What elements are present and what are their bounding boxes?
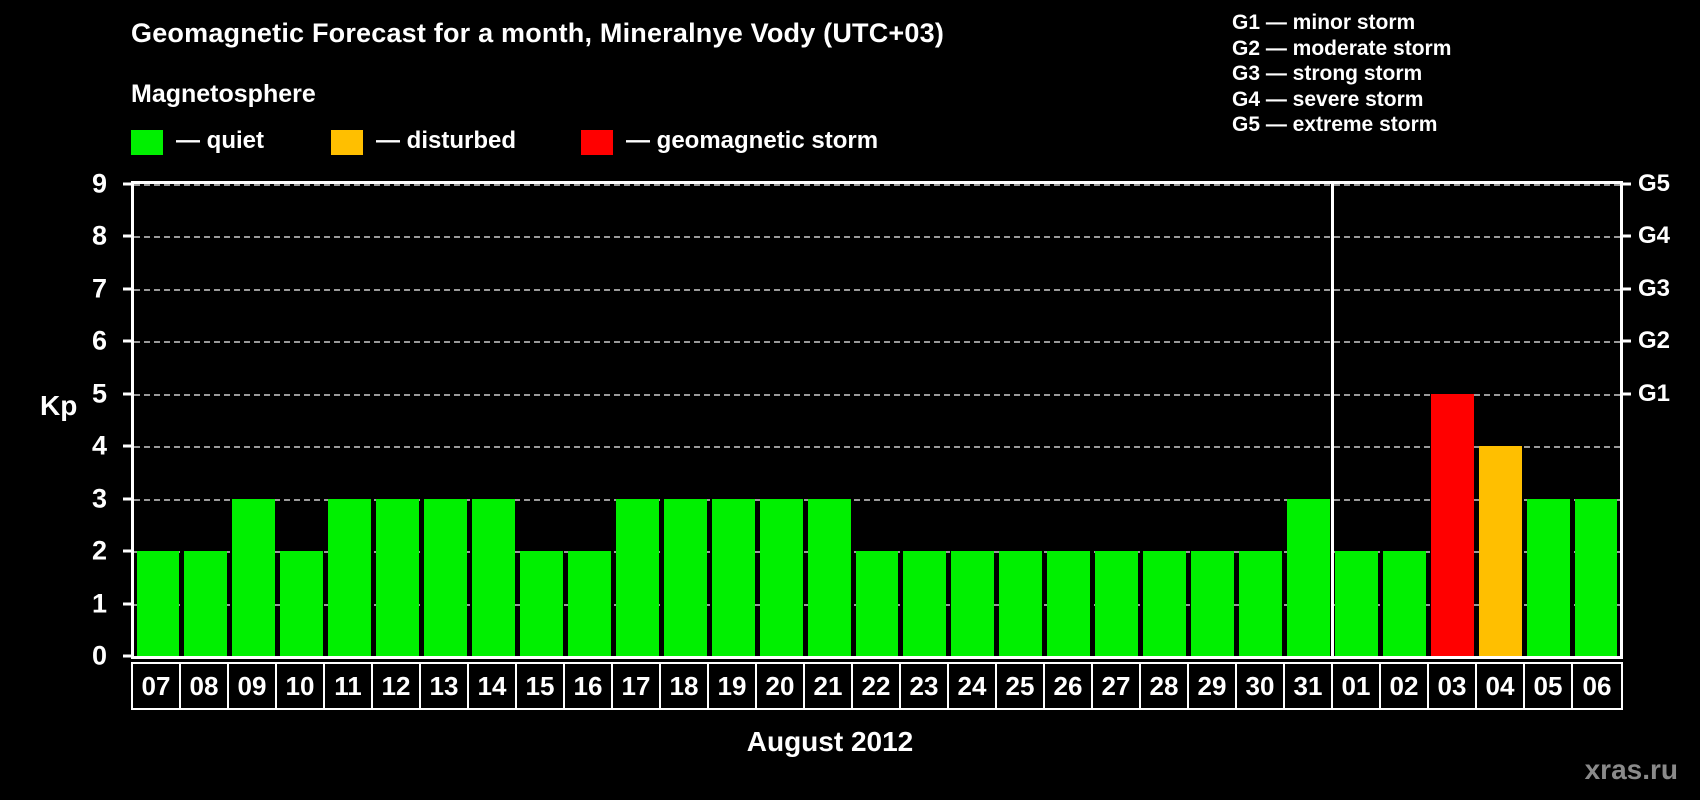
y-axis-label: 9 — [67, 169, 107, 200]
legend-label: — disturbed — [376, 127, 516, 155]
day-label: 16 — [565, 664, 613, 708]
x-axis-title-text: August 2012 — [747, 726, 914, 757]
g-axis-tick — [1620, 287, 1631, 290]
bar — [1383, 551, 1426, 656]
current-time-line — [1331, 184, 1334, 656]
legend-label: — geomagnetic storm — [626, 127, 878, 155]
y-axis-tick — [123, 392, 134, 395]
g-axis-tick — [1620, 183, 1631, 186]
bar — [328, 499, 371, 656]
day-label: 12 — [373, 664, 421, 708]
g-axis-label: G2 — [1638, 327, 1670, 355]
day-label: 21 — [805, 664, 853, 708]
gridline — [134, 341, 1620, 343]
bar — [520, 551, 563, 656]
day-label: 11 — [325, 664, 373, 708]
legend-item-1: — disturbed — [331, 128, 516, 158]
gridline — [134, 446, 1620, 448]
day-label: 10 — [277, 664, 325, 708]
day-label: 05 — [1525, 664, 1573, 708]
bar — [999, 551, 1042, 656]
day-label: 29 — [1189, 664, 1237, 708]
bar — [1335, 551, 1378, 656]
day-label: 23 — [901, 664, 949, 708]
gridline — [134, 184, 1620, 186]
day-label: 01 — [1333, 664, 1381, 708]
storm-scale-row: G1 — minor storm — [1232, 10, 1451, 36]
bar — [1431, 394, 1474, 656]
y-axis-label: 2 — [67, 536, 107, 567]
day-label: 18 — [661, 664, 709, 708]
x-axis-title: August 2012 — [0, 726, 1700, 758]
storm-scale-legend: G1 — minor stormG2 — moderate stormG3 — … — [1232, 10, 1451, 138]
day-label: 27 — [1093, 664, 1141, 708]
y-axis-tick — [123, 550, 134, 553]
storm-scale-row: G5 — extreme storm — [1232, 112, 1451, 138]
gridline — [134, 289, 1620, 291]
bar — [1527, 499, 1570, 656]
day-label: 24 — [949, 664, 997, 708]
day-label: 25 — [997, 664, 1045, 708]
g-axis-label: G4 — [1638, 222, 1670, 250]
y-axis-tick — [123, 183, 134, 186]
gridline — [134, 394, 1620, 396]
legend-label: — quiet — [176, 127, 264, 155]
storm-scale-row: G3 — strong storm — [1232, 61, 1451, 87]
day-label: 19 — [709, 664, 757, 708]
y-axis-label: 4 — [67, 431, 107, 462]
bar — [903, 551, 946, 656]
y-axis-label: 6 — [67, 326, 107, 357]
y-axis-label: 0 — [67, 641, 107, 672]
g-axis-tick — [1620, 392, 1631, 395]
storm-scale-row: G4 — severe storm — [1232, 87, 1451, 113]
g-axis-label: G3 — [1638, 275, 1670, 303]
day-label: 22 — [853, 664, 901, 708]
bar — [232, 499, 275, 656]
bar — [760, 499, 803, 656]
storm-scale-row: G2 — moderate storm — [1232, 36, 1451, 62]
bar — [1143, 551, 1186, 656]
page-title: Geomagnetic Forecast for a month, Minera… — [131, 18, 944, 49]
y-axis-tick — [123, 287, 134, 290]
y-axis-tick — [123, 445, 134, 448]
bar — [1239, 551, 1282, 656]
day-label: 02 — [1381, 664, 1429, 708]
bar — [951, 551, 994, 656]
day-label: 17 — [613, 664, 661, 708]
gridline — [134, 236, 1620, 238]
g-axis-label: G5 — [1638, 170, 1670, 198]
bar — [568, 551, 611, 656]
y-axis-label: 8 — [67, 221, 107, 252]
legend-item-0: — quiet — [131, 128, 264, 158]
bar — [1047, 551, 1090, 656]
day-label: 26 — [1045, 664, 1093, 708]
day-label: 31 — [1285, 664, 1333, 708]
day-label: 09 — [229, 664, 277, 708]
bar — [1095, 551, 1138, 656]
day-label: 04 — [1477, 664, 1525, 708]
day-label: 08 — [181, 664, 229, 708]
day-label: 07 — [133, 664, 181, 708]
bar — [712, 499, 755, 656]
legend-swatch-icon — [581, 130, 613, 155]
day-label: 06 — [1573, 664, 1621, 708]
y-axis-label: 7 — [67, 273, 107, 304]
day-label: 03 — [1429, 664, 1477, 708]
g-axis-tick — [1620, 340, 1631, 343]
y-axis-tick — [123, 655, 134, 658]
chart-subtitle: Magnetosphere — [131, 80, 316, 109]
legend-swatch-icon — [331, 130, 363, 155]
y-axis-tick — [123, 602, 134, 605]
bar — [1191, 551, 1234, 656]
bar — [184, 551, 227, 656]
g-axis-tick — [1620, 235, 1631, 238]
x-axis-day-labels: 0708091011121314151617181920212223242526… — [131, 662, 1623, 710]
day-label: 28 — [1141, 664, 1189, 708]
bar — [424, 499, 467, 656]
geomagnetic-forecast-chart: Geomagnetic Forecast for a month, Minera… — [0, 0, 1700, 800]
legend-item-2: — geomagnetic storm — [581, 128, 878, 158]
y-axis-tick — [123, 340, 134, 343]
y-axis-label: 1 — [67, 588, 107, 619]
legend-swatch-icon — [131, 130, 163, 155]
bar — [280, 551, 323, 656]
y-axis-label: 3 — [67, 483, 107, 514]
day-label: 15 — [517, 664, 565, 708]
plot-area — [131, 181, 1623, 659]
bar — [856, 551, 899, 656]
watermark: xras.ru — [1585, 754, 1678, 786]
bar — [472, 499, 515, 656]
y-axis-tick — [123, 497, 134, 500]
bar — [808, 499, 851, 656]
y-axis-tick — [123, 235, 134, 238]
bar — [1479, 446, 1522, 656]
y-axis-label: 5 — [67, 378, 107, 409]
bar — [1287, 499, 1330, 656]
bar — [616, 499, 659, 656]
bar — [376, 499, 419, 656]
day-label: 14 — [469, 664, 517, 708]
bar — [137, 551, 180, 656]
bar — [1575, 499, 1618, 656]
g-axis-label: G1 — [1638, 380, 1670, 408]
day-label: 20 — [757, 664, 805, 708]
day-label: 13 — [421, 664, 469, 708]
day-label: 30 — [1237, 664, 1285, 708]
bar — [664, 499, 707, 656]
